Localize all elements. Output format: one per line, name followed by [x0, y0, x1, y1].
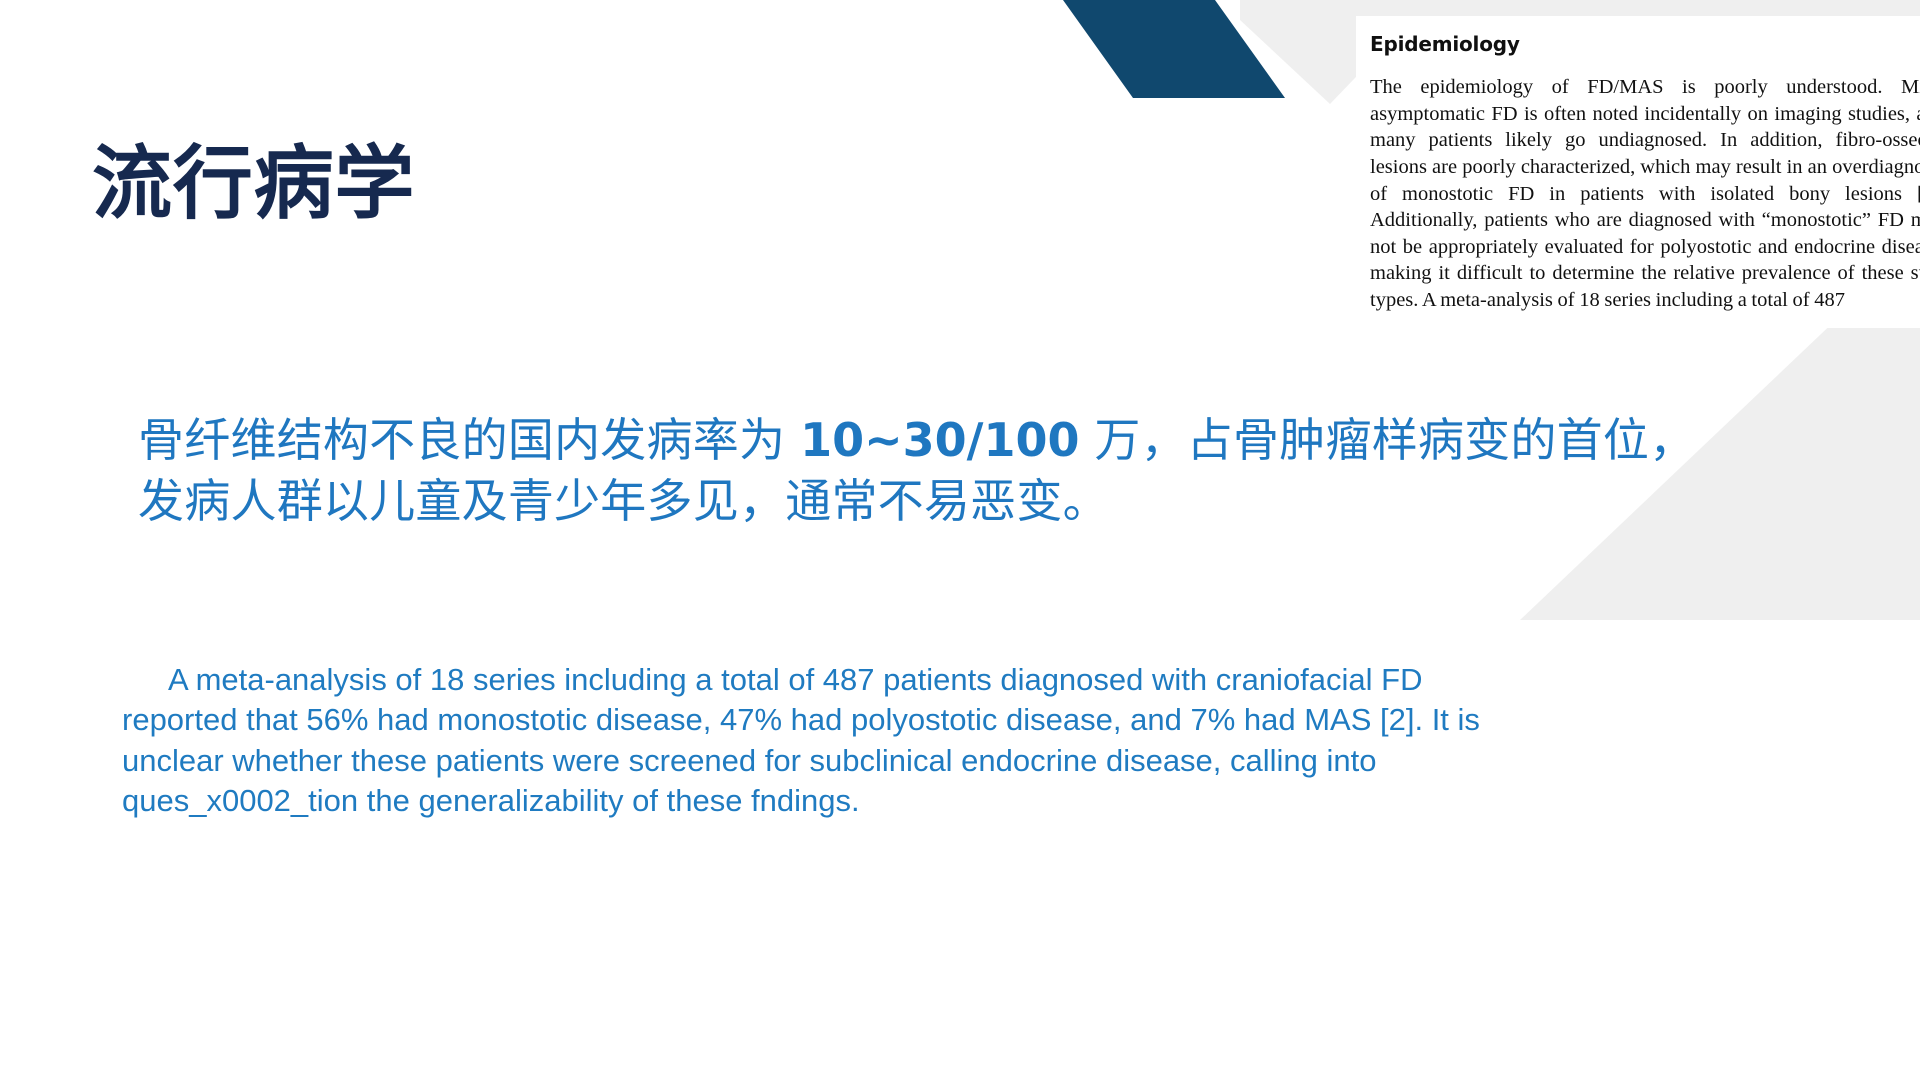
- slide-title: 流行病学: [92, 142, 415, 226]
- blue-stripe-shape: [1063, 0, 1285, 98]
- paper-section-heading: Epidemiology: [1370, 32, 1920, 56]
- chinese-lead-paragraph: 骨纤维结构不良的国内发病率为 10~30/100 万，占骨肿瘤样病变的首位，发病…: [138, 410, 1698, 531]
- embedded-paper-image: Epidemiology The epidemiology of FD/MAS …: [1356, 16, 1920, 328]
- incidence-rate-value: 10~30/100: [800, 413, 1079, 467]
- presentation-slide: 流行病学 Epidemiology The epidemiology of FD…: [0, 0, 1920, 1080]
- english-body-paragraph: A meta-analysis of 18 series including a…: [122, 660, 1482, 821]
- paper-body-text: The epidemiology of FD/MAS is poorly und…: [1370, 74, 1920, 314]
- chinese-text-part-1: 骨纤维结构不良的国内发病率为: [138, 413, 800, 467]
- english-paragraph-text: A meta-analysis of 18 series including a…: [122, 662, 1480, 818]
- paper-text-before-citation: The epidemiology of FD/MAS is poorly und…: [1370, 76, 1920, 205]
